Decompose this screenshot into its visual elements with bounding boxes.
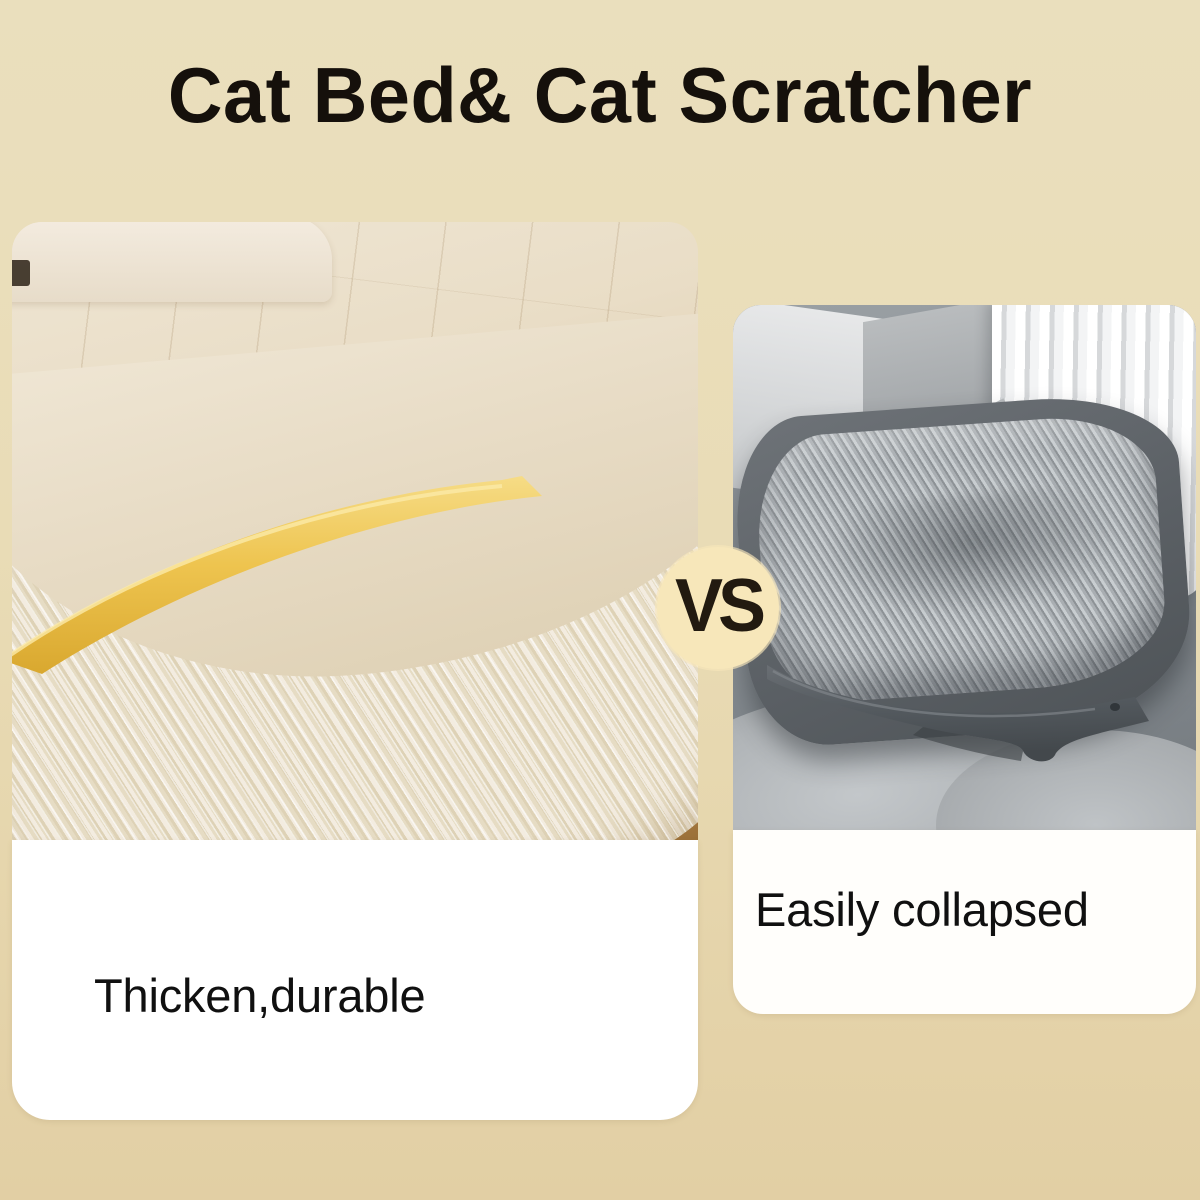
left-caption-text: Thicken,durable (94, 968, 425, 1023)
right-caption-card: Easily collapsed (733, 830, 1196, 1014)
right-product-photo (733, 305, 1196, 830)
left-caption-card: Thicken,durable (12, 840, 698, 1120)
vs-label: VS (675, 569, 761, 644)
right-caption-text: Easily collapsed (755, 882, 1089, 937)
yellow-frame-top-rail (12, 474, 698, 674)
left-product-photo (12, 222, 698, 842)
wall-baseboard (12, 222, 332, 302)
right-photo-scene (733, 305, 1196, 830)
page-title: Cat Bed& Cat Scratcher (18, 52, 1182, 138)
vs-badge: VS (657, 547, 779, 669)
product-comparison-graphic: Cat Bed& Cat Scratcher (0, 0, 1200, 1200)
left-photo-scene (12, 222, 698, 842)
bent-side-rail (763, 635, 1183, 765)
wooden-side-rail (12, 834, 698, 842)
